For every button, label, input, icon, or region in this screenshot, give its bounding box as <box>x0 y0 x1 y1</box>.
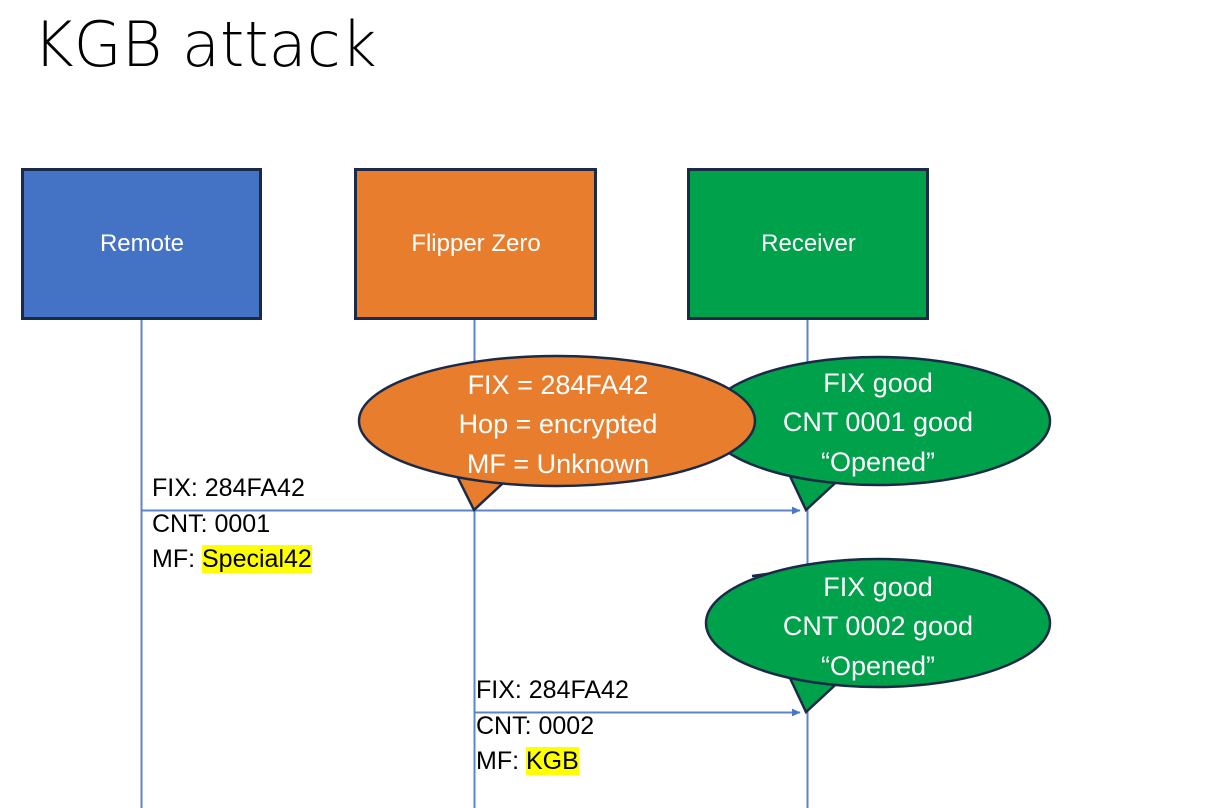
callout-shape-receiver-1[interactable] <box>706 357 1050 510</box>
message-1-cnt: CNT: 0001 <box>152 507 312 543</box>
message-1-mf: MF: Special42 <box>152 542 312 578</box>
message-2-labels: FIX: 284FA42 CNT: 0002 MF: KGB <box>476 673 629 780</box>
message-2-fix: FIX: 284FA42 <box>476 673 629 709</box>
message-2-mf: MF: KGB <box>476 744 629 780</box>
actor-label-flipper: Flipper Zero <box>411 230 540 259</box>
message-1-fix: FIX: 284FA42 <box>152 471 312 507</box>
message-2-mf-prefix: MF: <box>476 747 526 775</box>
actor-label-flipper-wrap[interactable]: Flipper Zero <box>355 169 597 320</box>
actor-label-receiver-wrap[interactable]: Receiver <box>688 169 929 320</box>
message-1-mf-prefix: MF: <box>152 545 202 573</box>
slide-canvas: KGB attack <box>0 0 1218 808</box>
actor-label-receiver: Receiver <box>761 230 856 259</box>
message-1-labels: FIX: 284FA42 CNT: 0001 MF: Special42 <box>152 471 312 578</box>
callout-shape-receiver-2[interactable] <box>706 559 1050 712</box>
callout-shape-flipper[interactable] <box>359 356 755 510</box>
actor-label-remote: Remote <box>100 230 184 259</box>
actor-label-remote-wrap[interactable]: Remote <box>22 169 262 320</box>
message-2-cnt: CNT: 0002 <box>476 709 629 745</box>
message-2-mf-value: KGB <box>526 747 579 775</box>
message-1-mf-value: Special42 <box>202 545 312 573</box>
